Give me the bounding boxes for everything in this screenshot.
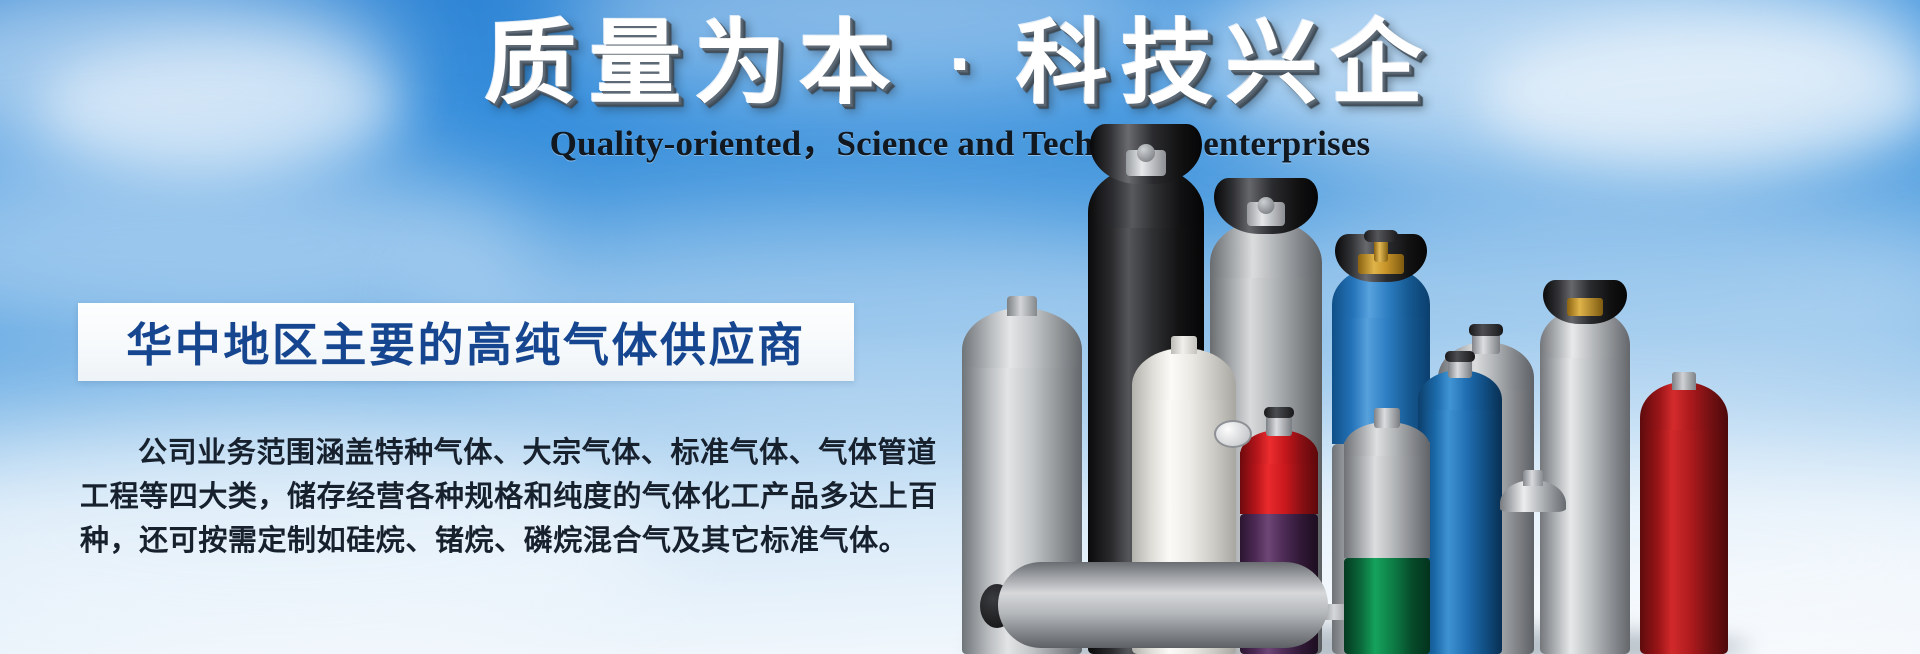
cylinder-shoulder xyxy=(1132,348,1236,400)
brass-valve-icon xyxy=(1567,298,1603,316)
dark-red-cylinder xyxy=(1640,364,1728,654)
description-line-3: 种，还可按需定制如硅烷、锗烷、磷烷混合气及其它标准气体。 xyxy=(80,518,870,562)
cylinder-valve xyxy=(1374,408,1400,428)
description-line-2: 工程等四大类，储存经营各种规格和纯度的气体化工产品多达上百 xyxy=(80,474,870,518)
valve-handwheel-icon xyxy=(1364,230,1398,242)
cylinder-body xyxy=(1640,418,1728,654)
cylinder-neck xyxy=(1672,372,1696,390)
promotional-banner: 质量为本 · 科技兴企 Quality-oriented，Science and… xyxy=(0,0,1920,654)
highlight-box-text: 华中地区主要的高纯气体供应商 xyxy=(126,309,805,375)
green-base-cylinder xyxy=(1344,414,1430,654)
cylinder-body xyxy=(1500,502,1566,654)
valve-handwheel-icon xyxy=(1264,407,1294,418)
cylinder-body xyxy=(1418,398,1502,654)
cylinder-body-green xyxy=(1344,558,1430,654)
cylinder-neck xyxy=(1171,336,1197,354)
description-paragraph: 公司业务范围涵盖特种气体、大宗气体、标准气体、气体管道 工程等四大类，储存经营各… xyxy=(80,430,870,562)
cylinder-neck xyxy=(1007,296,1037,316)
highlight-box: 华中地区主要的高纯气体供应商 xyxy=(78,303,854,381)
description-line-1: 公司业务范围涵盖特种气体、大宗气体、标准气体、气体管道 xyxy=(80,430,870,474)
small-silver-cylinder xyxy=(1500,464,1566,654)
cylinder-body-silver xyxy=(1344,442,1430,558)
gas-cylinder-group xyxy=(940,0,1920,654)
pressure-gauge-icon xyxy=(1214,420,1252,448)
headline-part-1: 质量为本 xyxy=(485,10,905,117)
valve-knob-icon xyxy=(1137,144,1155,162)
valve-handwheel-icon xyxy=(1445,351,1475,362)
valve-knob-icon xyxy=(1258,197,1275,214)
cylinder-shoulder xyxy=(962,308,1082,368)
cylinder-neck xyxy=(1523,470,1543,486)
blue-tall-cylinder-right xyxy=(1418,354,1502,654)
horizontal-grey-cylinder xyxy=(998,562,1328,648)
valve-handwheel-icon xyxy=(1469,324,1503,336)
